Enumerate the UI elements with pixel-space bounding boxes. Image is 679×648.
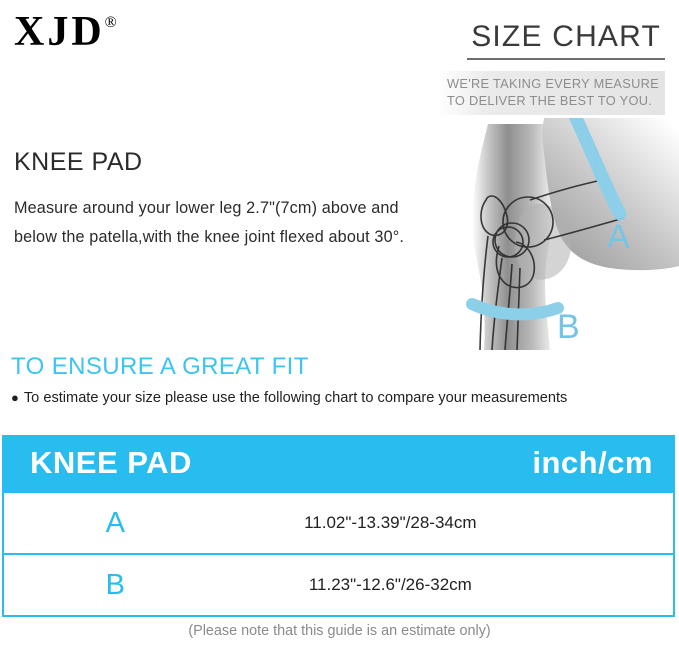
page-title: SIZE CHART (467, 20, 665, 60)
knee-anatomy-illustration: A B (424, 118, 679, 350)
registered-trademark-icon: ® (105, 14, 117, 31)
fit-section-heading: TO ENSURE A GREAT FIT (11, 353, 309, 381)
brand-name: XJD (14, 9, 105, 55)
row-value-b: 11.23"-12.6"/26-32cm (227, 554, 674, 616)
knee-diagram-icon (424, 118, 679, 350)
table-header-row: KNEE PAD inch/cm (3, 436, 674, 492)
product-description: Measure around your lower leg 2.7"(7cm) … (14, 194, 439, 252)
header-block: SIZE CHART WE'RE TAKING EVERY MEASURE TO… (437, 20, 665, 115)
table-header-product: KNEE PAD (3, 436, 450, 492)
fit-note-text: To estimate your size please use the fol… (24, 390, 567, 406)
footer-disclaimer: (Please note that this guide is an estim… (0, 623, 679, 639)
brand-logo: XJD® (14, 11, 117, 53)
band-b-label: B (557, 308, 580, 347)
table-row: B 11.23"-12.6"/26-32cm (3, 554, 674, 616)
fit-section-note: ●To estimate your size please use the fo… (11, 388, 611, 409)
product-title: KNEE PAD (14, 148, 143, 177)
row-letter-a: A (3, 492, 227, 554)
header-subtitle: WE'RE TAKING EVERY MEASURE TO DELIVER TH… (437, 71, 665, 115)
size-chart-table: KNEE PAD inch/cm A 11.02"-13.39"/28-34cm… (2, 435, 675, 617)
bullet-icon: ● (11, 390, 19, 405)
row-value-a: 11.02"-13.39"/28-34cm (227, 492, 674, 554)
table-header-unit: inch/cm (450, 436, 674, 492)
row-letter-b: B (3, 554, 227, 616)
table-row: A 11.02"-13.39"/28-34cm (3, 492, 674, 554)
band-a-label: A (607, 218, 630, 257)
